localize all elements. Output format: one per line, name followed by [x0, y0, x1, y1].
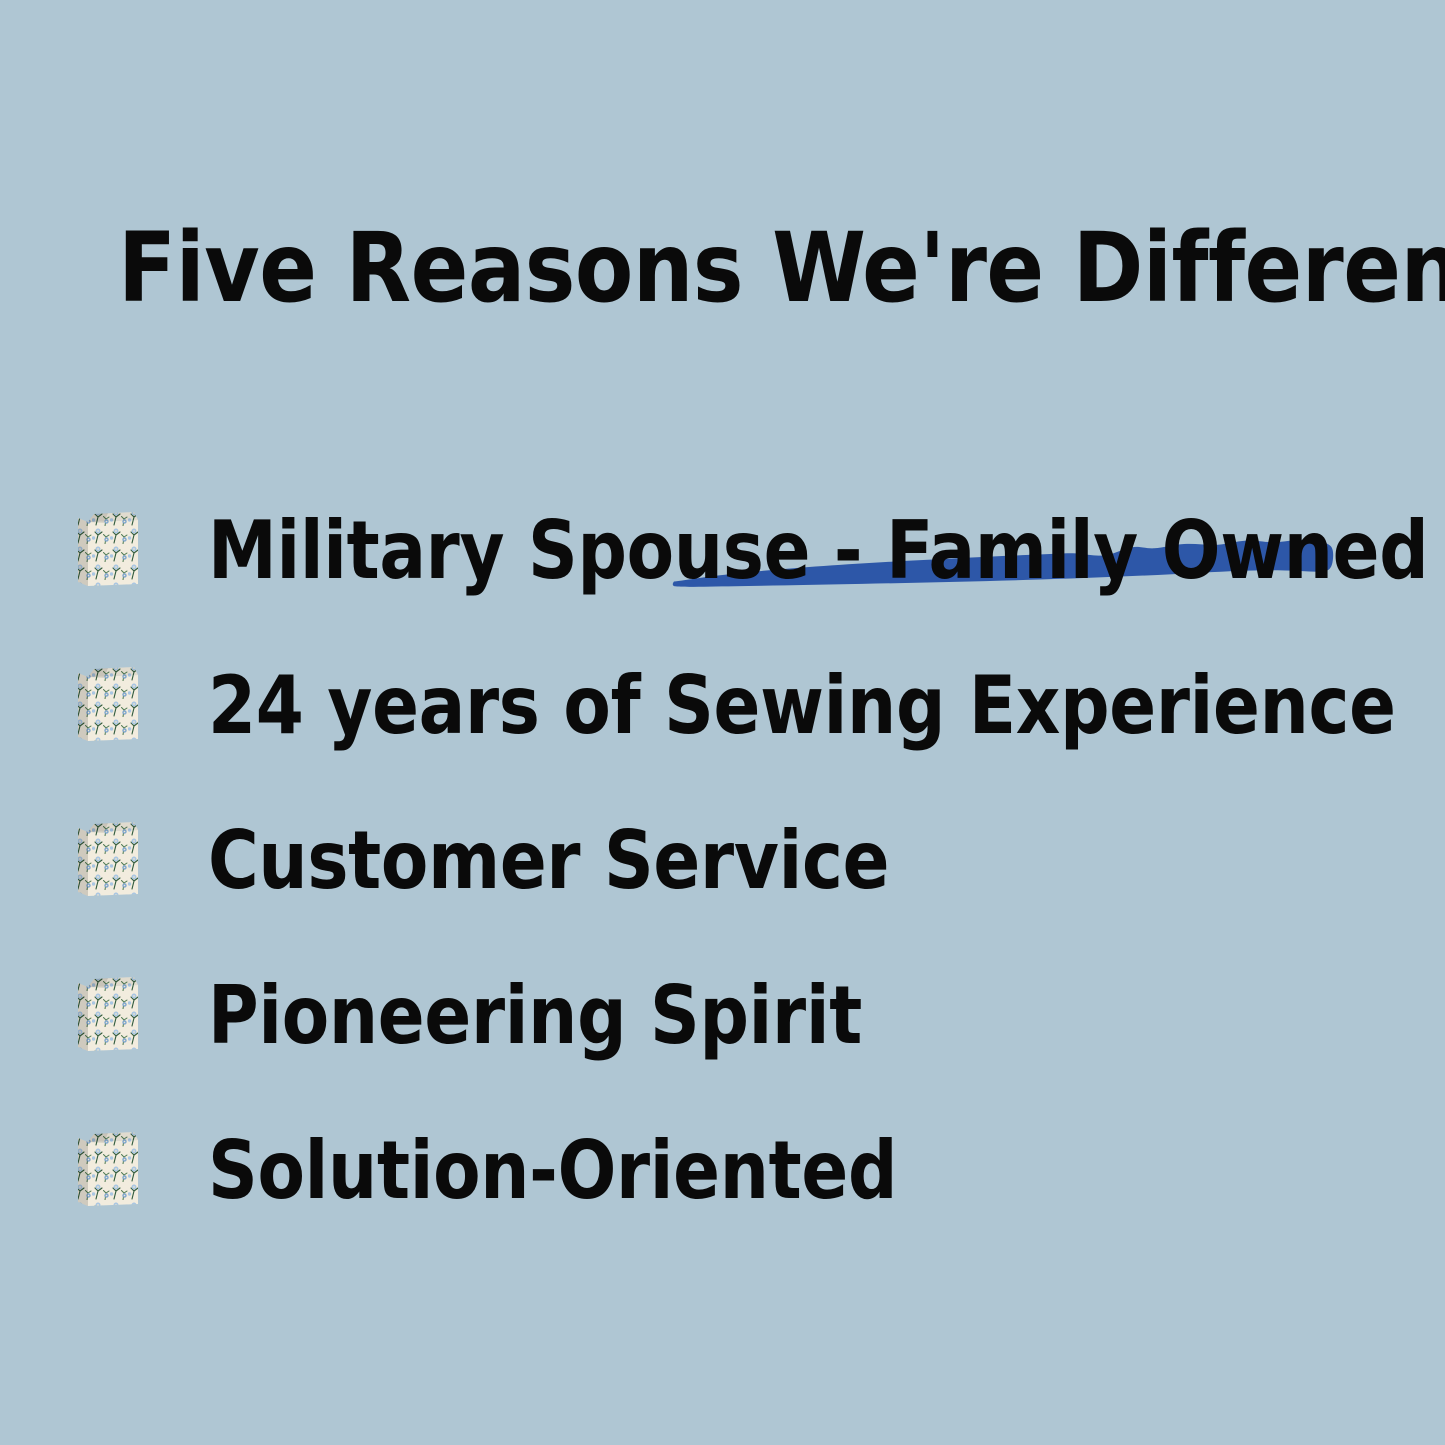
- list-item-label: Customer Service: [208, 807, 889, 915]
- list-item-label: Solution-Oriented: [208, 1117, 897, 1225]
- folded-floral-fabric-icon: [74, 973, 146, 1055]
- list-item: Customer Service: [0, 807, 1445, 962]
- header: Five Reasons We're Different: [0, 218, 1445, 378]
- list-item: Pioneering Spirit: [0, 962, 1445, 1117]
- list-item-label: Pioneering Spirit: [208, 962, 862, 1070]
- reasons-list: Military Spouse - Family Owned 24 years …: [0, 497, 1445, 1272]
- page-title: Five Reasons We're Different: [118, 218, 1315, 318]
- folded-floral-fabric-icon: [74, 663, 146, 745]
- poster-canvas: Five Reasons We're Different: [0, 0, 1445, 1445]
- folded-floral-fabric-icon: [74, 818, 146, 900]
- folded-floral-fabric-icon: [74, 508, 146, 590]
- list-item: Military Spouse - Family Owned: [0, 497, 1445, 652]
- list-item-label: Military Spouse - Family Owned: [208, 497, 1428, 605]
- folded-floral-fabric-icon: [74, 1128, 146, 1210]
- list-item: Solution-Oriented: [0, 1117, 1445, 1272]
- list-item-label: 24 years of Sewing Experience: [208, 652, 1396, 760]
- list-item: 24 years of Sewing Experience: [0, 652, 1445, 807]
